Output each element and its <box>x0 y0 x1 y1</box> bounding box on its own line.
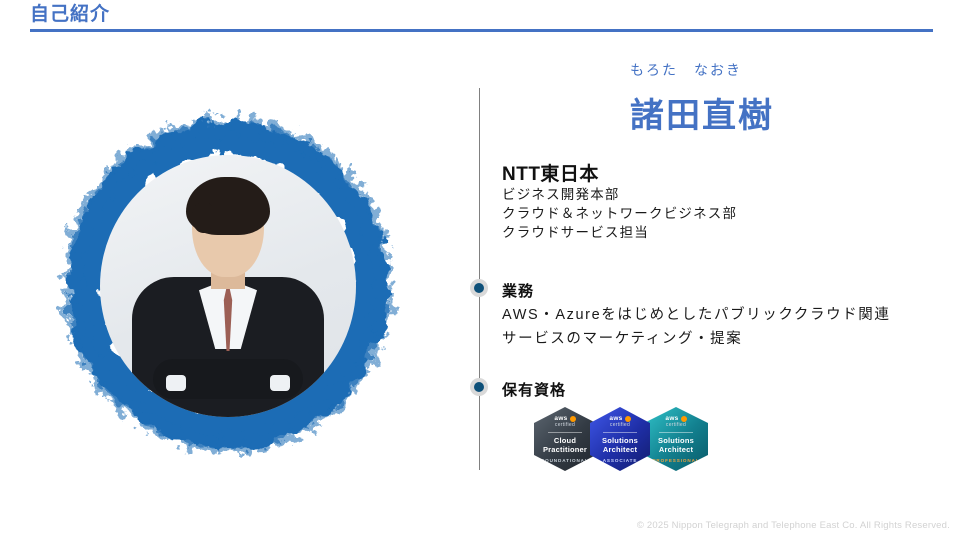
certification-badge-group: aws certified Cloud Practitioner FOUNDAT… <box>534 407 702 471</box>
title-underline-rule <box>30 29 933 32</box>
page-title: 自己紹介 <box>30 2 110 28</box>
aws-wordmark: aws <box>554 415 567 422</box>
badge-certified-label: certified <box>555 422 575 429</box>
badge-certified-label: certified <box>666 422 686 429</box>
section-body-gyomu: AWS・Azureをはじめとしたパブリッククラウド関連 サービスのマーケティング… <box>502 303 891 351</box>
aws-certification-badge: aws certified Solutions Architect PROFES… <box>644 407 708 471</box>
department-line-1: ビジネス開発本部 <box>502 185 737 204</box>
badge-separator <box>603 432 637 433</box>
department-lines: ビジネス開発本部 クラウド＆ネットワークビジネス部 クラウドサービス担当 <box>502 185 737 242</box>
badge-title-line-2: Architect <box>603 445 637 454</box>
badge-certified-label: certified <box>610 422 630 429</box>
badge-separator <box>548 432 582 433</box>
portrait-figure <box>48 105 408 465</box>
badge-separator <box>659 432 693 433</box>
bullet-marker-gyomu <box>470 279 488 297</box>
aws-certification-badge: aws certified Solutions Architect ASSOCI… <box>590 407 650 471</box>
badge-level-label: ASSOCIATE <box>603 458 638 463</box>
person-name: 諸田直樹 <box>630 88 774 137</box>
badge-level-label: PROFESSIONAL <box>652 458 699 463</box>
aws-wordmark: aws <box>609 415 622 422</box>
portrait-photo <box>100 155 356 417</box>
badge-level-label: FOUNDATIONAL <box>541 458 588 463</box>
badge-title-line-1: Solutions <box>658 436 694 445</box>
aws-swoosh-icon <box>625 416 631 422</box>
gyomu-line-1: AWS・Azureをはじめとしたパブリッククラウド関連 <box>502 303 891 327</box>
department-line-3: クラウドサービス担当 <box>502 223 737 242</box>
company-name: NTT東日本 <box>502 159 599 186</box>
portrait-cuff-left <box>166 375 186 391</box>
aws-logo-icon: aws <box>609 415 630 422</box>
aws-swoosh-icon <box>570 416 576 422</box>
badge-title-line-2: Architect <box>659 445 693 454</box>
aws-logo-icon: aws <box>665 415 686 422</box>
section-heading-gyomu: 業務 <box>502 280 534 301</box>
aws-certification-badge: aws certified Cloud Practitioner FOUNDAT… <box>534 407 596 471</box>
section-heading-shikaku: 保有資格 <box>502 379 566 400</box>
badge-title-line-1: Solutions <box>602 436 638 445</box>
copyright-footer: © 2025 Nippon Telegraph and Telephone Ea… <box>637 520 950 531</box>
aws-wordmark: aws <box>665 415 678 422</box>
portrait-hair <box>186 177 270 235</box>
badge-title-line-2: Practitioner <box>543 445 587 454</box>
aws-swoosh-icon <box>681 416 687 422</box>
badge-title-line-1: Cloud <box>554 436 576 445</box>
bullet-marker-shikaku <box>470 378 488 396</box>
gyomu-line-2: サービスのマーケティング・提案 <box>502 327 891 351</box>
name-furigana: もろた なおき <box>630 60 742 80</box>
portrait-cuff-right <box>270 375 290 391</box>
department-line-2: クラウド＆ネットワークビジネス部 <box>502 204 737 223</box>
aws-logo-icon: aws <box>554 415 575 422</box>
